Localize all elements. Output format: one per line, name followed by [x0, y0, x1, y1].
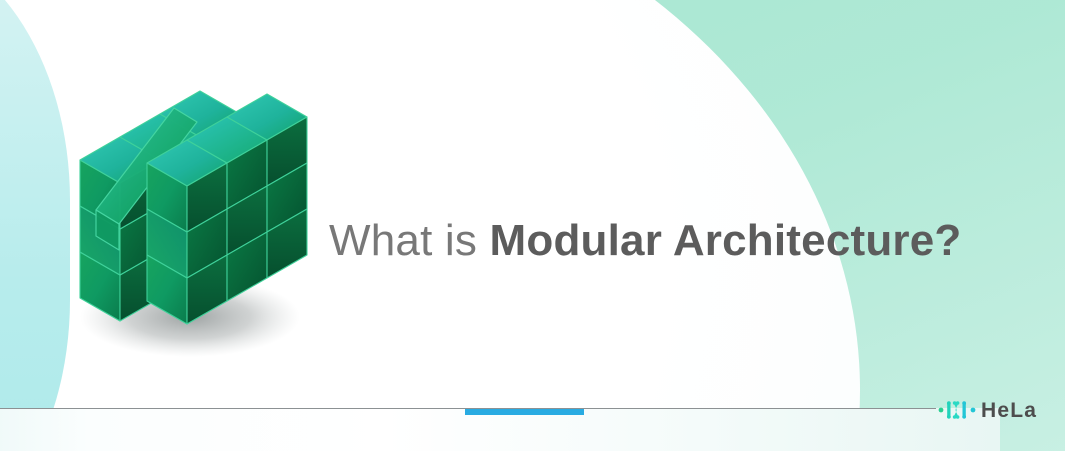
hela-dna-icon	[938, 399, 976, 421]
brand-logo[interactable]: HeLa	[938, 396, 1037, 424]
page-title-light: What is	[329, 216, 490, 265]
modular-blocks-icon	[52, 60, 312, 360]
brand-wordmark: HeLa	[981, 400, 1037, 421]
page-title: What is Modular Architecture?	[329, 213, 962, 269]
footer-accent-bar	[465, 409, 584, 415]
banner-canvas: What is Modular Architecture?	[0, 0, 1065, 451]
modular-blocks-illustration	[52, 60, 312, 360]
page-title-bold: Modular Architecture?	[490, 216, 962, 265]
